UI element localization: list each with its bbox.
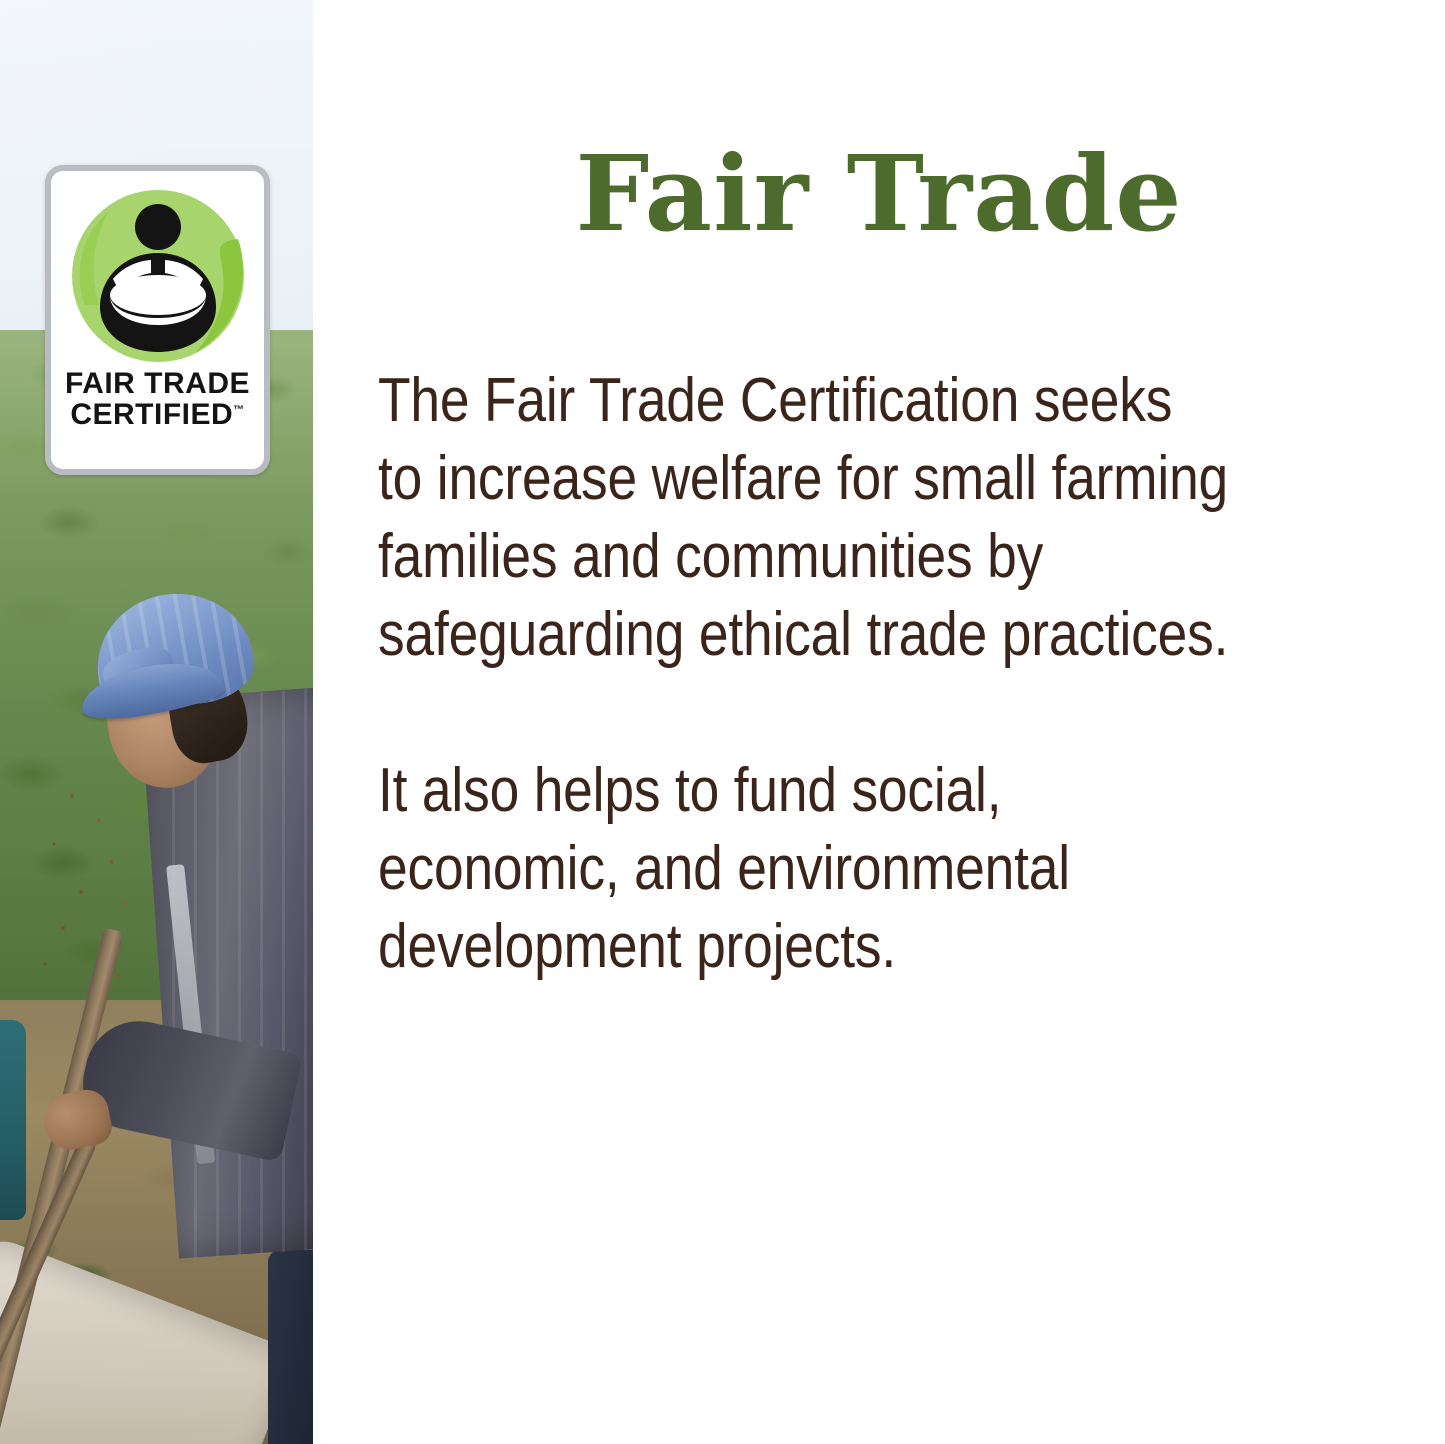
paragraph-spacer: [378, 674, 1229, 752]
paragraph-2: It also helps to fund social, economic, …: [378, 752, 1229, 986]
trademark-symbol: ™: [233, 404, 245, 416]
photo-second-person-sliver: [0, 1020, 26, 1220]
fair-trade-slide: FAIR TRADE CERTIFIED™ Fair Trade The Fai…: [0, 0, 1445, 1444]
fair-trade-person-bowl-icon: [69, 187, 247, 365]
body-copy: The Fair Trade Certification seeks to in…: [378, 362, 1229, 986]
badge-line-2: CERTIFIED™: [51, 400, 264, 431]
content-panel: Fair Trade The Fair Trade Certification …: [313, 0, 1445, 1444]
photo-farmer-trousers: [268, 1250, 313, 1444]
badge-line-2-text: CERTIFIED: [70, 398, 233, 431]
coffee-farmer-photo: FAIR TRADE CERTIFIED™: [0, 0, 313, 1444]
fair-trade-certified-seal: FAIR TRADE CERTIFIED™: [45, 165, 270, 475]
page-title: Fair Trade: [313, 142, 1445, 246]
paragraph-1: The Fair Trade Certification seeks to in…: [378, 362, 1229, 674]
badge-line-1: FAIR TRADE: [51, 369, 264, 400]
badge-wordmark: FAIR TRADE CERTIFIED™: [51, 369, 264, 430]
